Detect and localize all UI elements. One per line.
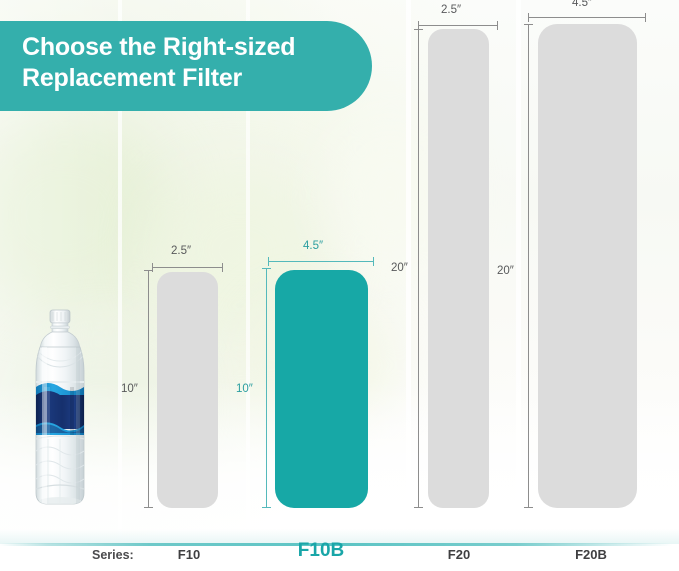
f10-width-dimension-line (152, 263, 223, 272)
f10-height-dimension-line (144, 270, 153, 508)
series-label: Series: (92, 548, 134, 562)
f10b-width-dimension-line (268, 257, 374, 266)
infographic-canvas: Choose the Right-sized Replacement Filte… (0, 0, 679, 571)
dimension-bar (148, 270, 149, 508)
filter-body-f10[interactable] (157, 272, 218, 508)
f20b-width-dimension-line (528, 13, 646, 22)
dimension-cap-top (144, 270, 153, 271)
filter-body-f20[interactable] (428, 29, 489, 508)
dimension-bar (418, 29, 419, 508)
f10-height-label: 10″ (121, 383, 138, 395)
dimension-cap-bottom (524, 507, 533, 508)
dimension-cap-right (497, 21, 498, 30)
dimension-cap-left (528, 13, 529, 22)
series-item-f10b[interactable]: F10B (298, 540, 344, 562)
dimension-cap-bottom (144, 507, 153, 508)
filter-body-f20b[interactable] (538, 24, 637, 508)
f20b-height-label: 20″ (497, 265, 514, 277)
dimension-bar (528, 17, 646, 18)
dimension-cap-bottom (414, 507, 423, 508)
header-banner: Choose the Right-sized Replacement Filte… (0, 21, 372, 111)
f10-width-label: 2.5″ (171, 245, 191, 257)
dimension-cap-left (268, 257, 269, 266)
dimension-bar (418, 25, 498, 26)
dimension-bar (266, 268, 267, 508)
dimension-cap-top (262, 268, 271, 269)
f20-height-label: 20″ (391, 262, 408, 274)
series-item-f20[interactable]: F20 (448, 547, 470, 562)
f10b-height-label: 10″ (236, 383, 253, 395)
dimension-bar (528, 24, 529, 508)
f20-width-label: 2.5″ (441, 4, 461, 16)
filter-body-f10b[interactable] (275, 270, 368, 508)
dimension-cap-bottom (262, 507, 271, 508)
dimension-cap-right (222, 263, 223, 272)
header-title-line-2: Replacement Filter (22, 63, 372, 94)
header-title-line-1: Choose the Right-sized (22, 32, 372, 63)
series-item-f20b[interactable]: F20B (575, 547, 607, 562)
f20b-height-dimension-line (524, 24, 533, 508)
dimension-cap-top (524, 24, 533, 25)
dimension-cap-right (645, 13, 646, 22)
dimension-bar (152, 267, 223, 268)
dimension-cap-top (414, 29, 423, 30)
water-bottle-reference (26, 309, 94, 507)
dimension-bar (268, 261, 374, 262)
f20b-width-label: 4.5″ (572, 0, 592, 9)
dimension-cap-right (373, 257, 374, 266)
series-item-f10[interactable]: F10 (178, 547, 200, 562)
f10b-height-dimension-line (262, 268, 271, 508)
f10b-width-label: 4.5″ (303, 240, 323, 252)
f20-height-dimension-line (414, 29, 423, 508)
